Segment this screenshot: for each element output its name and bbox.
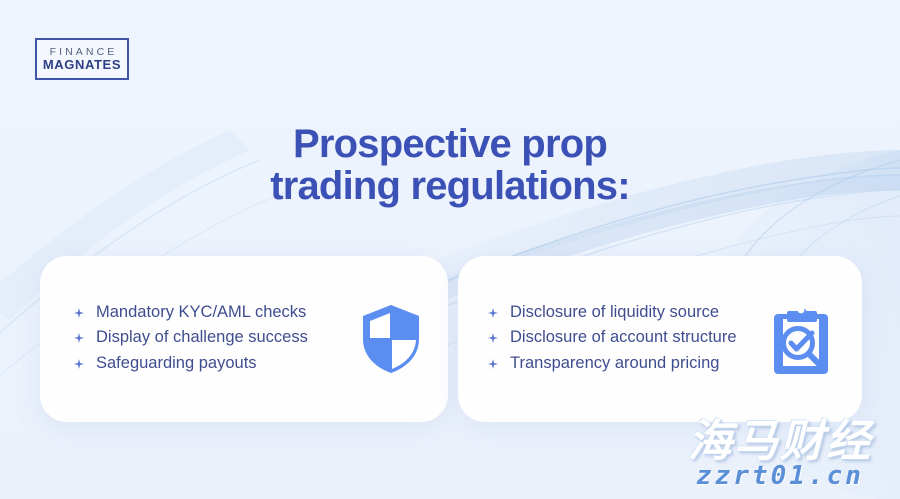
slide-title-line-1: Prospective prop xyxy=(293,122,607,166)
list-item-label: Disclosure of account structure xyxy=(510,328,737,346)
list-item: Disclosure of liquidity source xyxy=(488,301,762,325)
sparkle-bullet-icon xyxy=(74,333,84,343)
sparkle-bullet-icon xyxy=(74,308,84,318)
card-icon-slot-right xyxy=(762,302,840,376)
sparkle-bullet-icon xyxy=(488,308,498,318)
regulations-card-right: Disclosure of liquidity source Disclosur… xyxy=(458,256,862,422)
watermark-url: zzrt01.cn xyxy=(688,462,872,491)
slide-canvas: FINANCE MAGNATES Prospective prop tradin… xyxy=(0,0,900,499)
list-item: Display of challenge success xyxy=(74,326,352,350)
list-item-label: Disclosure of liquidity source xyxy=(510,303,719,321)
list-item-label: Safeguarding payouts xyxy=(96,354,257,372)
clipboard-check-search-icon xyxy=(770,302,832,376)
card-icon-slot-left xyxy=(352,303,430,375)
sparkle-bullet-icon xyxy=(488,359,498,369)
regulations-list-right: Disclosure of liquidity source Disclosur… xyxy=(458,301,762,378)
slide-title-line-2: trading regulations: xyxy=(0,165,900,207)
regulations-card-left: Mandatory KYC/AML checks Display of chal… xyxy=(40,256,448,422)
finance-magnates-logo[interactable]: FINANCE MAGNATES xyxy=(35,38,129,80)
list-item-label: Display of challenge success xyxy=(96,328,308,346)
logo-line-finance: FINANCE xyxy=(47,46,118,58)
sparkle-bullet-icon xyxy=(488,333,498,343)
regulations-list-left: Mandatory KYC/AML checks Display of chal… xyxy=(40,301,352,378)
list-item-label: Transparency around pricing xyxy=(510,354,719,372)
list-item: Transparency around pricing xyxy=(488,352,762,376)
list-item: Mandatory KYC/AML checks xyxy=(74,301,352,325)
shield-icon xyxy=(359,303,423,375)
sparkle-bullet-icon xyxy=(74,359,84,369)
list-item: Disclosure of account structure xyxy=(488,326,762,350)
watermark-chinese-text: 海马财经 xyxy=(688,420,872,464)
watermark: 海马财经 zzrt01.cn xyxy=(688,420,872,491)
background-wave-decoration xyxy=(0,0,900,499)
list-item: Safeguarding payouts xyxy=(74,352,352,376)
slide-title: Prospective prop trading regulations: xyxy=(0,123,900,207)
list-item-label: Mandatory KYC/AML checks xyxy=(96,303,306,321)
logo-line-magnates: MAGNATES xyxy=(43,58,121,73)
